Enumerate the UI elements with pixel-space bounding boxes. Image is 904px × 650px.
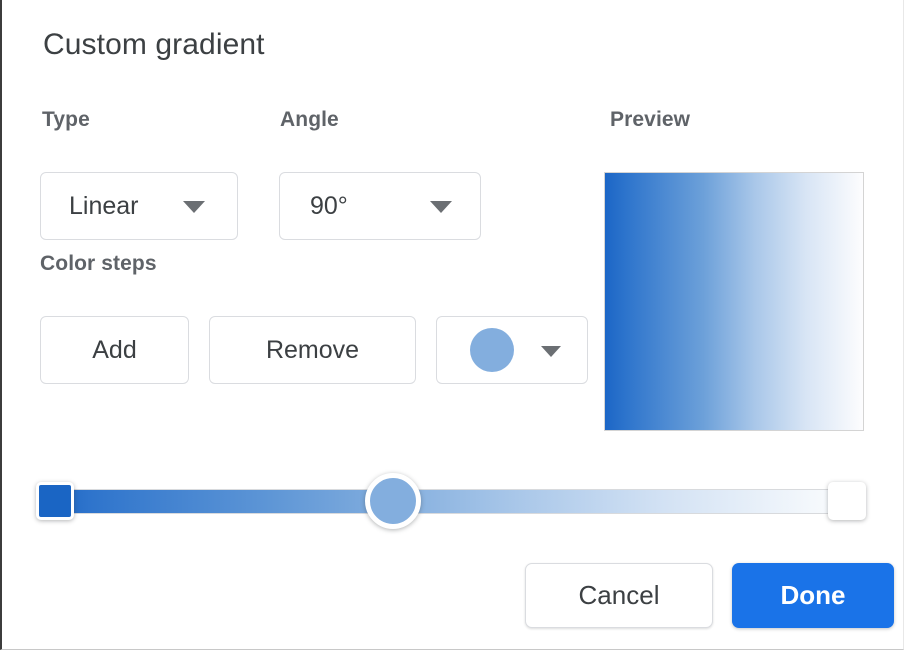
cancel-button[interactable]: Cancel: [525, 563, 713, 628]
preview-label: Preview: [610, 108, 690, 132]
gradient-stop-end-handle[interactable]: [828, 482, 866, 520]
gradient-angle-value: 90°: [310, 192, 348, 221]
angle-label: Angle: [280, 108, 339, 132]
gradient-stop-middle-handle[interactable]: [365, 473, 421, 529]
chevron-down-icon: [183, 201, 205, 213]
done-button-label: Done: [781, 580, 846, 611]
custom-gradient-dialog: Custom gradient Type Angle Preview Color…: [0, 0, 904, 650]
dialog-title: Custom gradient: [43, 28, 265, 62]
gradient-stop-start-handle[interactable]: [36, 482, 74, 520]
color-steps-label: Color steps: [40, 252, 157, 276]
color-swatch-dropdown[interactable]: [436, 316, 588, 384]
gradient-angle-dropdown[interactable]: 90°: [279, 172, 481, 240]
add-button-label: Add: [92, 336, 136, 365]
gradient-stops-slider[interactable]: [40, 489, 862, 514]
add-color-step-button[interactable]: Add: [40, 316, 189, 384]
color-swatch-circle: [470, 328, 514, 372]
chevron-down-icon: [430, 201, 452, 213]
remove-color-step-button[interactable]: Remove: [209, 316, 416, 384]
remove-button-label: Remove: [266, 336, 359, 365]
gradient-slider-track[interactable]: [40, 489, 862, 514]
cancel-button-label: Cancel: [579, 580, 660, 611]
gradient-type-dropdown[interactable]: Linear: [40, 172, 238, 240]
done-button[interactable]: Done: [732, 563, 894, 628]
type-label: Type: [42, 108, 90, 132]
gradient-preview: [604, 172, 864, 431]
gradient-type-value: Linear: [69, 192, 139, 221]
chevron-down-icon: [541, 346, 561, 357]
